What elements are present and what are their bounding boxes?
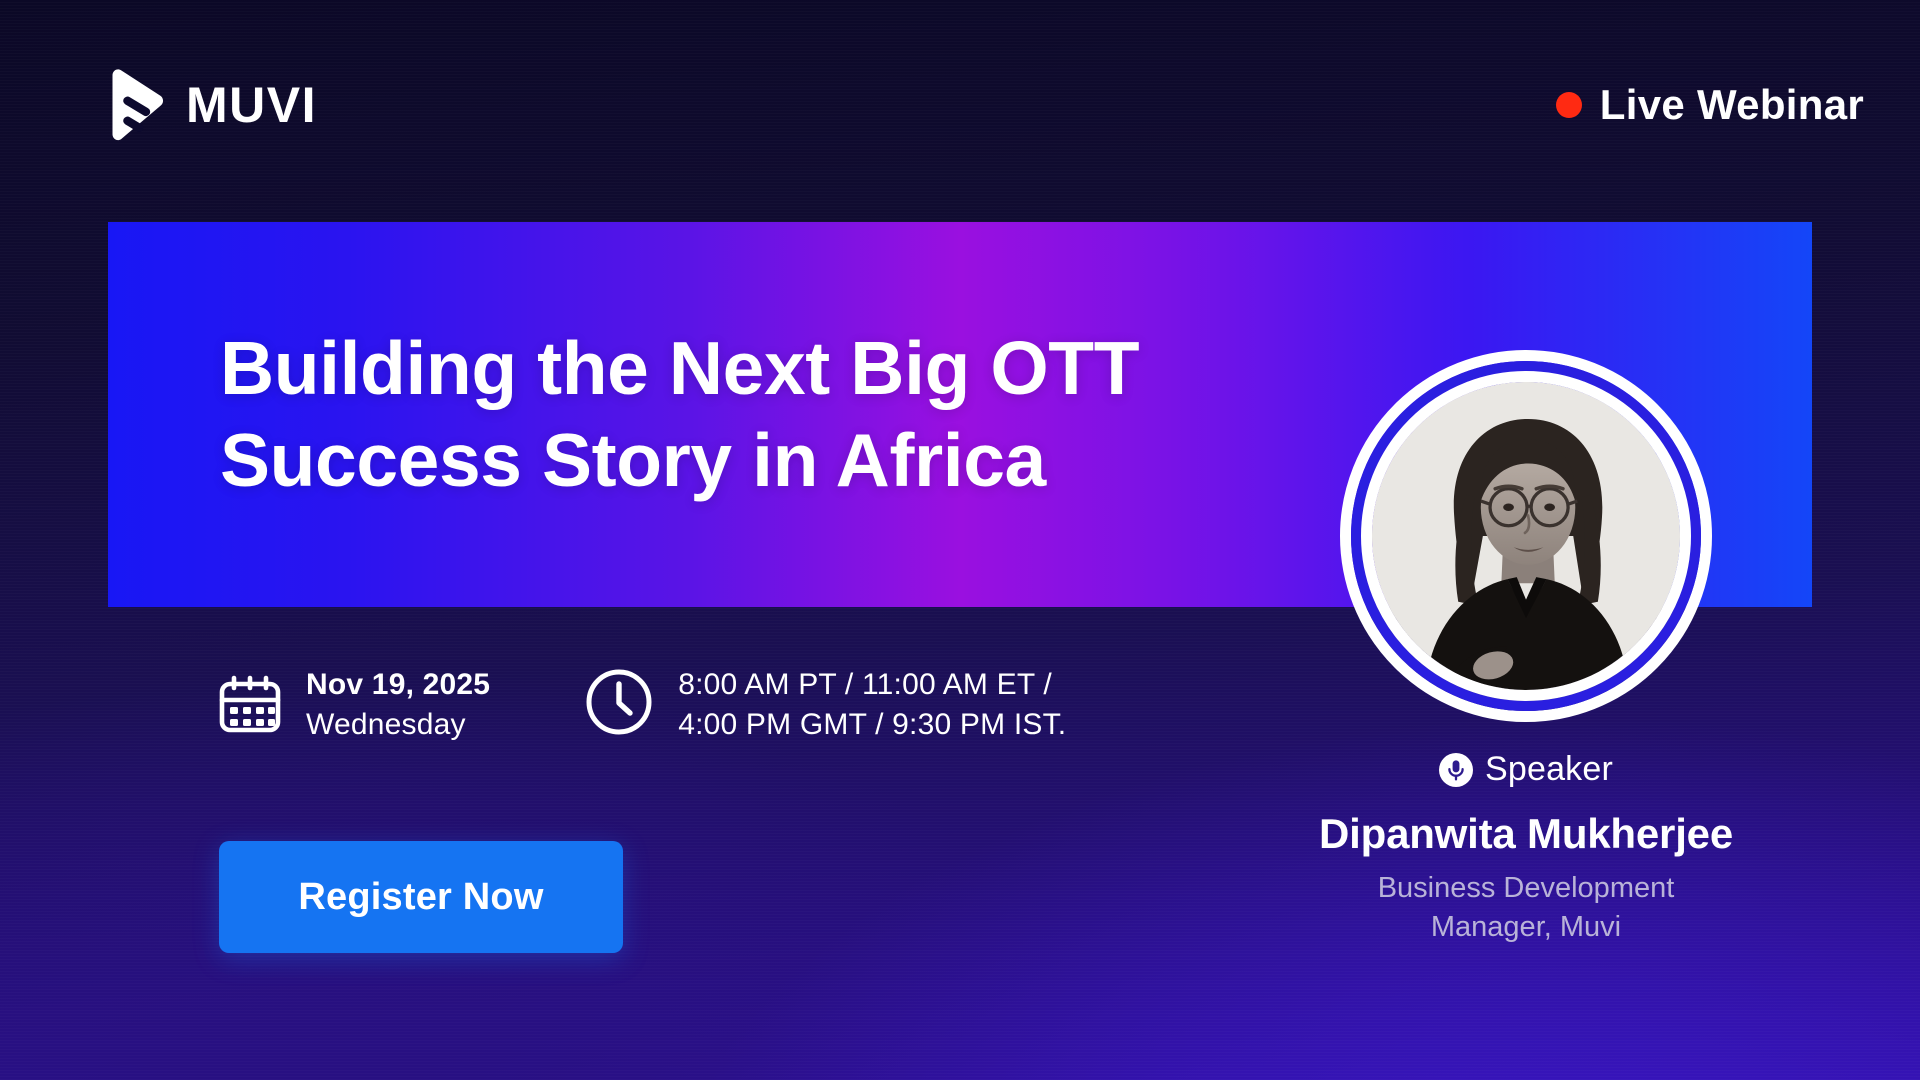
header: MUVI Live Webinar <box>0 0 1920 210</box>
speaker-block: Speaker Dipanwita Mukherjee Business Dev… <box>1240 750 1812 946</box>
brand-name: MUVI <box>186 80 317 130</box>
speaker-tag: Speaker <box>1240 750 1812 789</box>
calendar-icon <box>216 668 284 741</box>
speaker-name: Dipanwita Mukherjee <box>1240 811 1812 857</box>
event-time-line-2: 4:00 PM GMT / 9:30 PM IST. <box>678 705 1066 745</box>
live-webinar-label: Live Webinar <box>1600 81 1864 129</box>
page-title: Building the Next Big OTT Success Story … <box>108 323 1139 506</box>
event-meta: Nov 19, 2025 Wednesday 8:00 AM PT / 11:0… <box>216 665 1066 744</box>
clock-icon <box>582 665 656 744</box>
register-now-button[interactable]: Register Now <box>219 841 623 953</box>
speaker-role-line-1: Business Development <box>1240 869 1812 908</box>
speaker-tag-label: Speaker <box>1485 750 1613 789</box>
live-webinar-badge: Live Webinar <box>1556 81 1864 129</box>
event-time: 8:00 AM PT / 11:00 AM ET / 4:00 PM GMT /… <box>582 665 1066 744</box>
poster-canvas: MUVI Live Webinar Building the Next Big … <box>0 0 1920 1080</box>
headline-line-2: Success Story in Africa <box>220 415 1139 507</box>
brand-logo[interactable]: MUVI <box>104 69 317 141</box>
microphone-icon <box>1439 753 1473 787</box>
live-dot-icon <box>1556 92 1582 118</box>
speaker-photo <box>1372 382 1680 690</box>
event-date-text: Nov 19, 2025 Wednesday <box>306 665 490 744</box>
event-date-value: Nov 19, 2025 <box>306 665 490 705</box>
event-time-text: 8:00 AM PT / 11:00 AM ET / 4:00 PM GMT /… <box>678 665 1066 744</box>
event-date: Nov 19, 2025 Wednesday <box>216 665 490 744</box>
muvi-play-mark-icon <box>104 69 166 141</box>
headline-line-1: Building the Next Big OTT <box>220 323 1139 415</box>
speaker-role-line-2: Manager, Muvi <box>1240 908 1812 947</box>
event-weekday: Wednesday <box>306 705 490 745</box>
event-time-line-1: 8:00 AM PT / 11:00 AM ET / <box>678 665 1066 705</box>
speaker-avatar <box>1340 350 1712 722</box>
speaker-role: Business Development Manager, Muvi <box>1240 869 1812 946</box>
